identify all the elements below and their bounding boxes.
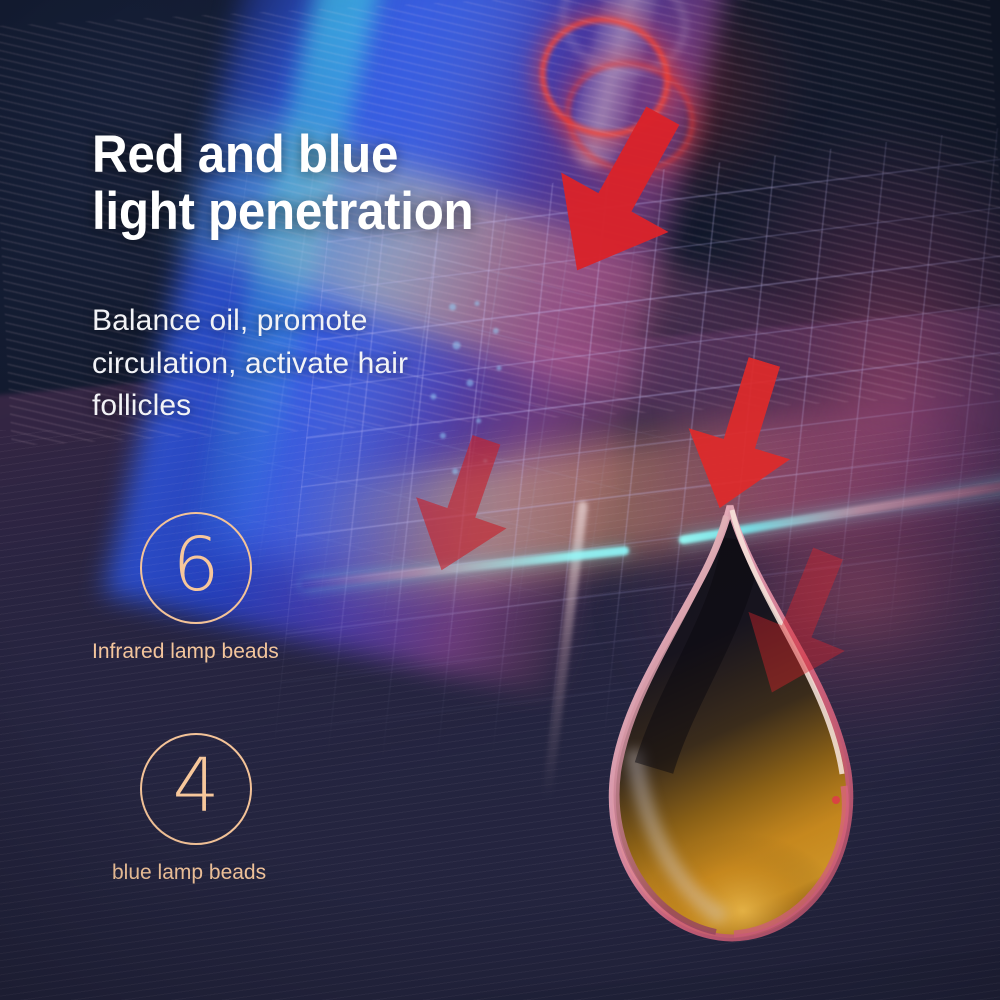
- stat-value: 6: [172, 528, 219, 602]
- stat-blue-lamp-beads: 4 blue lamp beads: [140, 733, 266, 885]
- subtitle-text: Balance oil, promote circulation, activa…: [92, 300, 512, 428]
- stat-infrared-lamp-beads: 6 Infrared lamp beads: [140, 512, 279, 664]
- infographic-canvas: Red and blue light penetration Balance o…: [0, 0, 1000, 1000]
- page-title: Red and blue light penetration: [92, 126, 576, 240]
- stat-label: blue lamp beads: [112, 861, 266, 885]
- stat-label: Infrared lamp beads: [92, 640, 279, 664]
- stat-circle-icon: 4: [140, 733, 252, 845]
- stat-value: 4: [172, 749, 219, 823]
- stat-circle-icon: 6: [140, 512, 252, 624]
